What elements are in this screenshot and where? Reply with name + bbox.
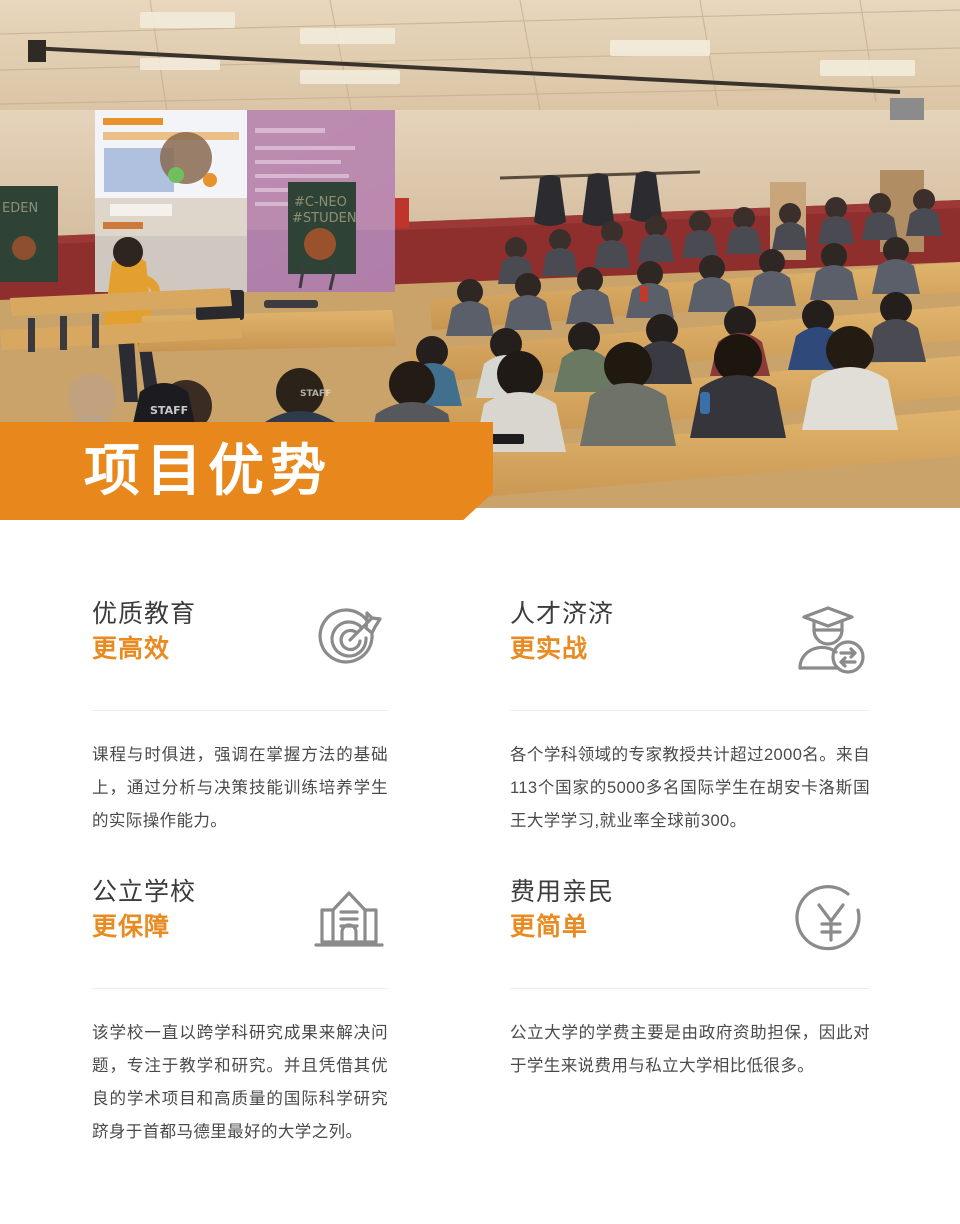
advantage-card-2: 人才济济 更实战 各个学科领域的专 [480, 560, 960, 838]
svg-text:#C-NEO: #C-NEO [294, 195, 347, 210]
card-1-subtitle: 更高效 [92, 633, 196, 666]
graduate-person-icon [792, 602, 870, 680]
school-building-icon [310, 880, 388, 958]
card-2-subtitle: 更实战 [510, 633, 614, 666]
card-1-body: 课程与时俱进，强调在掌握方法的基础上，通过分析与决策技能训练培养学生的实际操作能… [92, 739, 388, 838]
svg-text:STAFF: STAFF [150, 404, 188, 417]
svg-text:EDEN: EDEN [2, 201, 38, 216]
card-4-divider [510, 988, 870, 989]
card-4-title: 费用亲民 [510, 876, 614, 909]
advantage-card-1: 优质教育 更高效 课程与时俱进，强调在掌握方法的基础上，通过分析与决策技能训练培… [0, 560, 480, 838]
card-1-header: 优质教育 更高效 [92, 598, 388, 694]
card-2-body: 各个学科领域的专家教授共计超过2000名。来自113个国家的5000多名国际学生… [510, 739, 870, 838]
card-3-divider [92, 988, 388, 989]
card-3-header: 公立学校 更保障 [92, 876, 388, 972]
card-1-title: 优质教育 [92, 598, 196, 631]
section-banner: 项目优势 [0, 422, 493, 520]
card-3-body: 该学校一直以跨学科研究成果来解决问题，专注于教学和研究。并且凭借其优良的学术项目… [92, 1017, 388, 1149]
card-4-subtitle: 更简单 [510, 911, 614, 944]
advantage-card-4: 费用亲民 更简单 公立大学的学费主要是由政府资助担保，因此对于学生来说费用与私立… [480, 838, 960, 1149]
card-2-header: 人才济济 更实战 [510, 598, 870, 694]
card-4-header: 费用亲民 更简单 [510, 876, 870, 972]
target-dart-icon [310, 602, 388, 680]
banner-title: 项目优势 [84, 443, 332, 499]
card-2-divider [510, 710, 870, 711]
card-3-subtitle: 更保障 [92, 911, 196, 944]
yuan-currency-icon [792, 880, 870, 958]
card-4-body: 公立大学的学费主要是由政府资助担保，因此对于学生来说费用与私立大学相比低很多。 [510, 1017, 870, 1083]
advantage-card-3: 公立学校 更保障 该学校一直以跨学科研究成果来解决问题，专注于教学和研究。并且凭… [0, 838, 480, 1149]
card-2-title: 人才济济 [510, 598, 614, 631]
svg-text:STAFF: STAFF [300, 389, 331, 399]
svg-text:#STUDEN: #STUDEN [292, 211, 357, 226]
card-3-title: 公立学校 [92, 876, 196, 909]
card-1-divider [92, 710, 388, 711]
advantage-card-grid: 优质教育 更高效 课程与时俱进，强调在掌握方法的基础上，通过分析与决策技能训练培… [0, 560, 960, 1149]
promo-page: EDEN #C-NEO #STUDEN [0, 0, 960, 1224]
